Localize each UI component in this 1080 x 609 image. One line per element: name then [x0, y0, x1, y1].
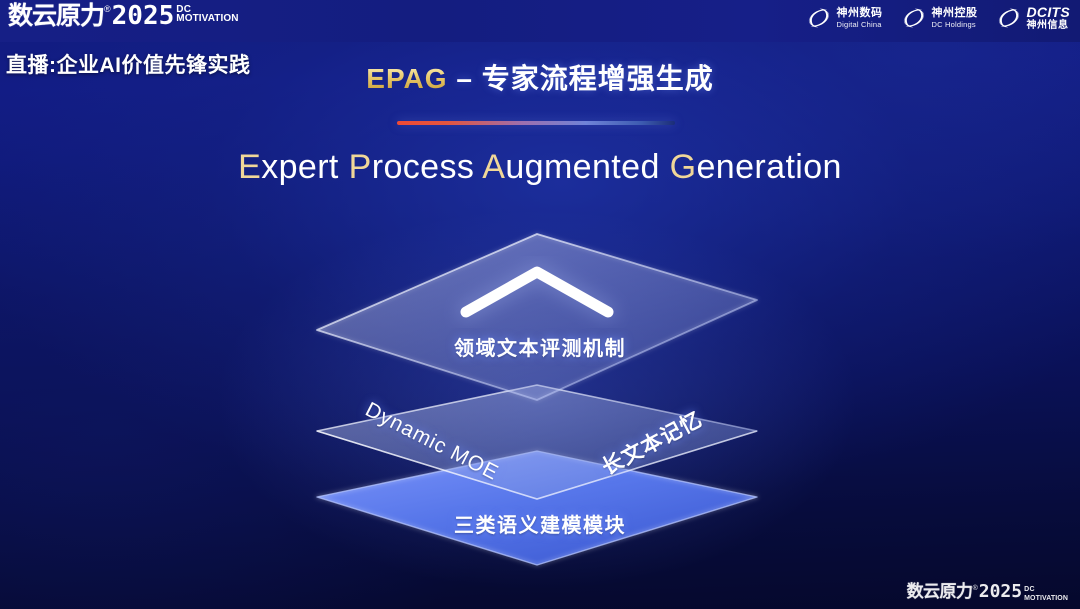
layer-stack-diagram: 领域文本评测机制 Dynamic MOE 长文本记忆 三类语义建模模块 — [0, 0, 1080, 609]
footer-watermark-logo: 数云原力 ® 2025 DC MOTIVATION — [907, 583, 1068, 603]
watermark-dc-text: DC — [1024, 585, 1068, 594]
watermark-year: 2025 — [979, 583, 1022, 601]
slide-canvas: 数云原力 ® 2025 DC MOTIVATION 直播:企业AI价值先锋实践 … — [0, 0, 1080, 609]
watermark-name-cn: 数云原力 — [907, 583, 973, 601]
watermark-dc-motivation: DC MOTIVATION — [1024, 585, 1068, 603]
watermark-motivation-text: MOTIVATION — [1024, 594, 1068, 603]
watermark-registered-mark: ® — [973, 583, 978, 595]
layer-top-label: 领域文本评测机制 — [0, 332, 1080, 361]
layer-bottom-label: 三类语义建模模块 — [0, 509, 1080, 538]
